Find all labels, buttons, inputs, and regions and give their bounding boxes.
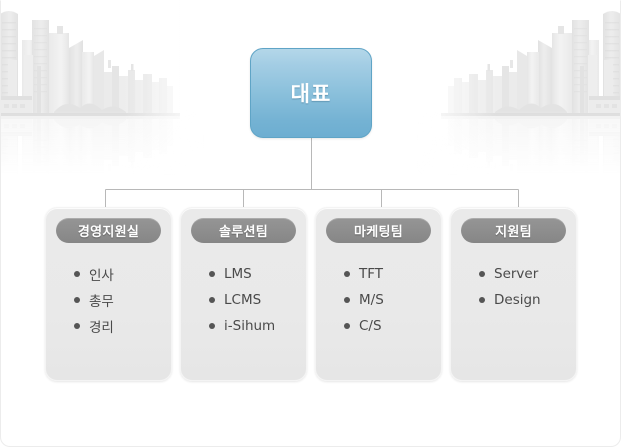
- list-item[interactable]: C/S: [344, 313, 441, 339]
- list-item-label: Server: [494, 266, 538, 282]
- department-title: 지원팀: [495, 221, 532, 240]
- department-item-list: LMS LCMS i-Sihum: [181, 261, 306, 339]
- org-node-root[interactable]: 대표: [250, 48, 372, 138]
- list-item[interactable]: Server: [479, 261, 576, 287]
- list-item[interactable]: LMS: [209, 261, 306, 287]
- bullet-icon: [344, 271, 350, 277]
- list-item[interactable]: i-Sihum: [209, 313, 306, 339]
- bullet-icon: [479, 297, 485, 303]
- list-item[interactable]: M/S: [344, 287, 441, 313]
- list-item[interactable]: 인사: [74, 261, 171, 287]
- department-item-list: 인사 총무 경리: [46, 261, 171, 339]
- department-header-pill: 마케팅팀: [326, 218, 431, 243]
- list-item-label: i-Sihum: [224, 318, 275, 334]
- department-item-list: Server Design: [451, 261, 576, 313]
- list-item-label: LMS: [224, 266, 252, 282]
- list-item[interactable]: TFT: [344, 261, 441, 287]
- cityscape-left-decoration: [0, 0, 204, 175]
- list-item-label: LCMS: [224, 292, 261, 308]
- bullet-icon: [479, 271, 485, 277]
- bullet-icon: [209, 271, 215, 277]
- list-item-label: M/S: [359, 292, 384, 308]
- department-title: 솔루션팀: [219, 221, 268, 240]
- list-item[interactable]: 총무: [74, 287, 171, 313]
- bullet-icon: [74, 323, 80, 329]
- department-header-pill: 경영지원실: [56, 218, 161, 243]
- bullet-icon: [344, 297, 350, 303]
- list-item[interactable]: LCMS: [209, 287, 306, 313]
- list-item-label: 인사: [89, 264, 114, 284]
- department-item-list: TFT M/S C/S: [316, 261, 441, 339]
- cityscape-right-decoration: [417, 0, 621, 175]
- org-chart-page: 대표 경영지원실 인사: [0, 0, 621, 447]
- list-item-label: C/S: [359, 318, 382, 334]
- department-box-management-support[interactable]: 경영지원실 인사 총무 경리: [45, 207, 172, 381]
- org-node-root-label: 대표: [291, 78, 332, 108]
- department-row: 경영지원실 인사 총무 경리 솔루션팀: [45, 207, 577, 381]
- department-header-pill: 지원팀: [461, 218, 566, 243]
- list-item[interactable]: 경리: [74, 313, 171, 339]
- bullet-icon: [74, 297, 80, 303]
- department-box-solution-team[interactable]: 솔루션팀 LMS LCMS i-Sihum: [180, 207, 307, 381]
- list-item-label: TFT: [359, 266, 383, 282]
- list-item[interactable]: Design: [479, 287, 576, 313]
- department-box-support-team[interactable]: 지원팀 Server Design: [450, 207, 577, 381]
- department-box-marketing-team[interactable]: 마케팅팀 TFT M/S C/S: [315, 207, 442, 381]
- department-title: 마케팅팀: [354, 221, 403, 240]
- list-item-label: 총무: [89, 290, 114, 310]
- bullet-icon: [209, 323, 215, 329]
- department-header-pill: 솔루션팀: [191, 218, 296, 243]
- list-item-label: 경리: [89, 316, 114, 336]
- list-item-label: Design: [494, 292, 541, 308]
- bullet-icon: [74, 271, 80, 277]
- bullet-icon: [209, 297, 215, 303]
- department-title: 경영지원실: [78, 221, 139, 240]
- bullet-icon: [344, 323, 350, 329]
